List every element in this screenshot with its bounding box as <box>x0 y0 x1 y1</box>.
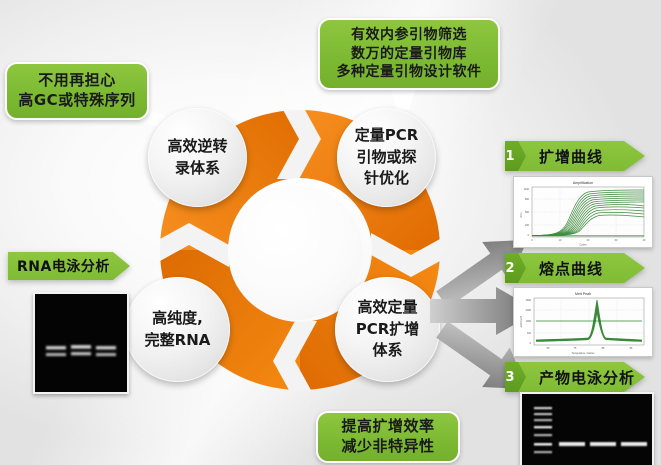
cycle-circle-qpcr-amplification[interactable]: 高效定量 PCR扩增 体系 <box>335 277 440 382</box>
circle-label-line1: 高纯度, <box>152 308 203 330</box>
tag-body: 1 扩增曲线 <box>505 141 645 171</box>
callout-line-2: 高GC或特殊序列 <box>18 91 135 111</box>
svg-text:Cycles: Cycles <box>579 244 587 247</box>
circle-label-line1: 高效逆转 <box>167 136 227 158</box>
svg-text:-d(RFU)/dT: -d(RFU)/dT <box>520 315 523 328</box>
melt-peak-chart-thumbnail[interactable]: Melt Peak 65 75 85 95 Temperat <box>513 287 653 357</box>
tag-label: 产物电泳分析 <box>539 367 635 388</box>
svg-text:200: 200 <box>525 224 530 227</box>
svg-text:2600: 2600 <box>526 299 532 302</box>
tag-number-badge: 1 <box>494 140 526 172</box>
callout-line-2: 减少非特异性 <box>341 437 434 457</box>
circle-label-line2: PCR扩增 <box>356 319 420 341</box>
svg-text:Melt Peak: Melt Peak <box>575 292 591 296</box>
callout-line-1: 提高扩增效率 <box>341 417 434 437</box>
svg-text:RFU: RFU <box>520 212 523 217</box>
svg-text:1000: 1000 <box>526 320 532 323</box>
tag-label: 扩增曲线 <box>539 146 603 167</box>
circle-label-line3: 体系 <box>372 340 402 362</box>
tag-body: RNA电泳分析 <box>8 252 130 280</box>
circle-label-line1: 高效定量 <box>357 297 417 319</box>
pcr-product-gel <box>520 392 654 465</box>
callout-line-3: 多种定量引物设计软件 <box>337 63 482 81</box>
tag-label: RNA电泳分析 <box>17 256 110 276</box>
callout-top-left: 不用再担心 高GC或特殊序列 <box>5 62 149 120</box>
callout-line-1: 有效内参引物筛选 <box>351 26 467 44</box>
callout-top-center: 有效内参引物筛选 数万的定量引物库 多种定量引物设计软件 <box>318 18 500 90</box>
svg-text:1100: 1100 <box>524 188 530 191</box>
tag-body: 3 产物电泳分析 <box>505 362 645 392</box>
svg-text:400: 400 <box>527 332 532 335</box>
callout-line-2: 数万的定量引物库 <box>351 45 467 63</box>
rna-electrophoresis-gel <box>33 292 129 394</box>
svg-text:Amplification: Amplification <box>573 181 593 185</box>
circle-label-line2: 引物或探 <box>356 147 416 169</box>
svg-text:2000: 2000 <box>526 309 532 312</box>
callout-line-1: 不用再担心 <box>38 71 116 91</box>
tag-product-electrophoresis[interactable]: 3 产物电泳分析 <box>505 362 645 392</box>
tag-melt-curve[interactable]: 2 熔点曲线 <box>505 253 645 283</box>
svg-text:500: 500 <box>525 211 530 214</box>
svg-text:Temperature, Celsius: Temperature, Celsius <box>572 352 595 355</box>
circle-label-line3: 针优化 <box>364 168 409 190</box>
svg-text:800: 800 <box>525 198 530 201</box>
tag-rna-electrophoresis[interactable]: RNA电泳分析 <box>8 252 130 280</box>
circle-label-line1: 定量PCR <box>355 125 419 147</box>
tag-label: 熔点曲线 <box>539 258 603 279</box>
circle-label-line2: 录体系 <box>175 158 220 180</box>
cycle-circle-reverse-transcription[interactable]: 高效逆转 录体系 <box>148 108 247 207</box>
tag-body: 2 熔点曲线 <box>505 253 645 283</box>
circle-label-line2: 完整RNA <box>145 330 211 352</box>
cycle-circle-primer-probe[interactable]: 定量PCR 引物或探 针优化 <box>337 108 436 207</box>
slide-canvas: 高效逆转 录体系 定量PCR 引物或探 针优化 高纯度, 完整RNA 高效定量 … <box>0 0 661 465</box>
amplification-chart-thumbnail[interactable]: Amplification <box>513 176 653 248</box>
cycle-circle-rna-purity[interactable]: 高纯度, 完整RNA <box>125 277 230 382</box>
tag-amplification-curve[interactable]: 1 扩增曲线 <box>505 141 645 171</box>
callout-bottom-center: 提高扩增效率 减少非特异性 <box>316 411 460 463</box>
